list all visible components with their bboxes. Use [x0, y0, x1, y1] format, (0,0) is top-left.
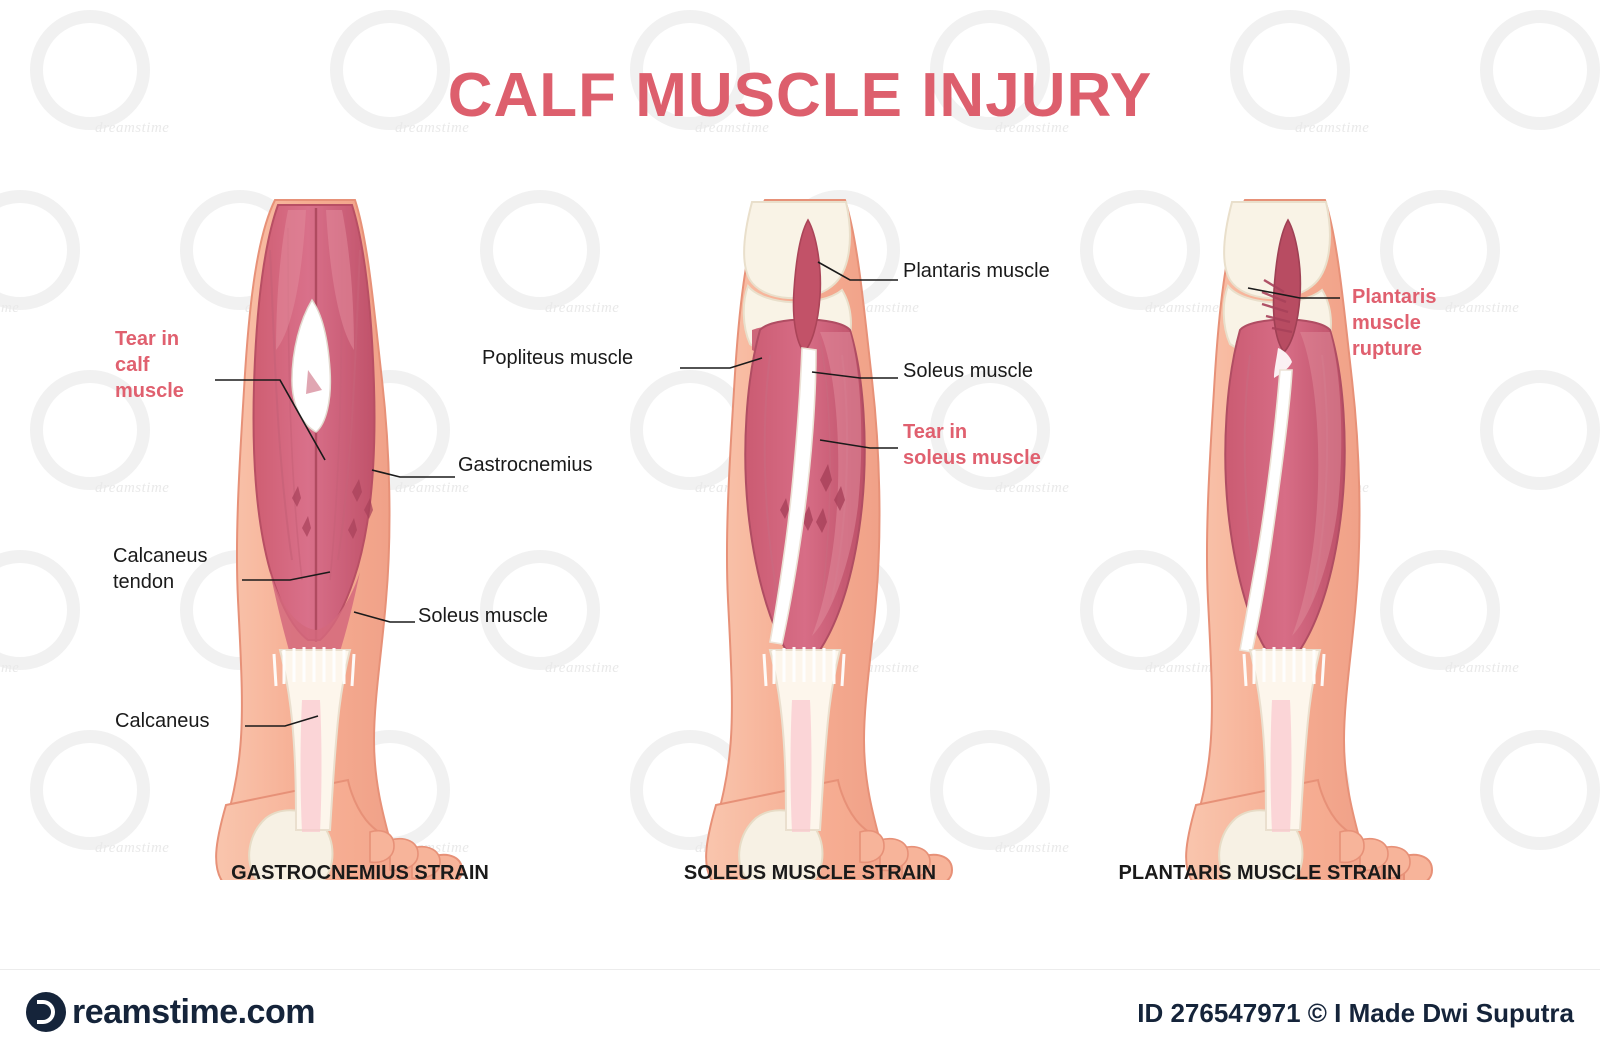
- label-plantaris-muscle: Plantaris muscle: [903, 258, 1050, 284]
- figure-soleus-strain: [520, 180, 1040, 880]
- figure-gastrocnemius-strain: [30, 180, 550, 880]
- label-tear-in-calf-muscle: Tear in calf muscle: [115, 326, 255, 404]
- label-soleus-muscle-1: Soleus muscle: [418, 603, 548, 629]
- image-credit: ID 276547971 © I Made Dwi Suputra: [1137, 998, 1574, 1029]
- footer-bar: reamstime.com ID 276547971 © I Made Dwi …: [0, 969, 1600, 1056]
- label-tear-in-soleus-muscle: Tear in soleus muscle: [903, 419, 1133, 471]
- page-title: CALF MUSCLE INJURY: [0, 60, 1600, 131]
- label-soleus-muscle-2: Soleus muscle: [903, 358, 1033, 384]
- dreamstime-logo[interactable]: reamstime.com: [26, 992, 315, 1032]
- watermark-text: dreamstime: [0, 300, 19, 317]
- caption-gastrocnemius-strain: GASTROCNEMIUS STRAIN: [150, 860, 570, 887]
- brand-text: reamstime.com: [72, 993, 315, 1032]
- caption-plantaris-strain: PLANTARIS MUSCLE STRAIN: [1050, 860, 1470, 887]
- label-popliteus-muscle: Popliteus muscle: [482, 345, 633, 371]
- label-gastrocnemius: Gastrocnemius: [458, 452, 593, 478]
- label-calcaneus-tendon: Calcaneus tendon: [113, 543, 263, 595]
- label-plantaris-muscle-rupture: Plantaris muscle rupture: [1352, 284, 1522, 362]
- caption-soleus-strain: SOLEUS MUSCLE STRAIN: [600, 860, 1020, 887]
- label-calcaneus: Calcaneus: [115, 708, 210, 734]
- watermark-text: dreamstime: [0, 660, 19, 677]
- dreamstime-mark-icon: [26, 992, 66, 1032]
